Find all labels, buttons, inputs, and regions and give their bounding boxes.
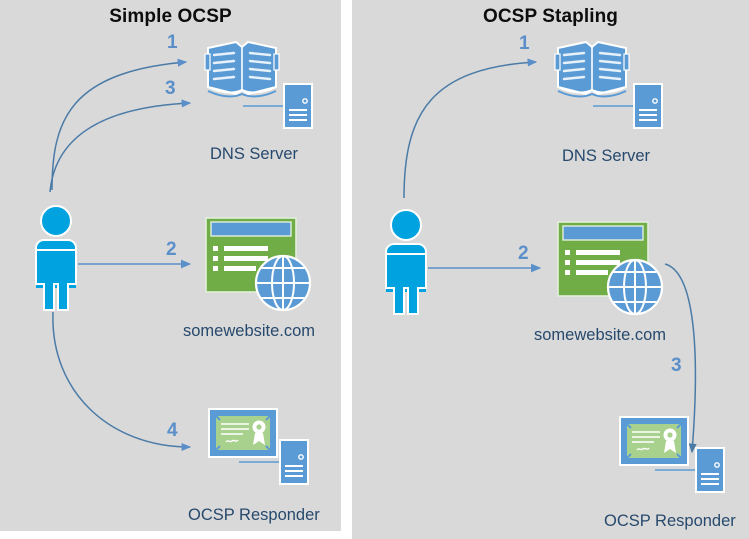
panel-ocsp-stapling: OCSP Stapling bbox=[352, 0, 749, 539]
step-number-simple-2: 2 bbox=[166, 239, 177, 261]
label-ocsp-responder-right: OCSP Responder bbox=[604, 512, 736, 531]
panel-title-ocsp-stapling: OCSP Stapling bbox=[352, 6, 749, 28]
step-number-stapling-2: 2 bbox=[518, 243, 529, 265]
step-number-simple-1: 1 bbox=[167, 32, 178, 54]
step-number-stapling-1: 1 bbox=[519, 33, 530, 55]
label-dns-server-right: DNS Server bbox=[562, 147, 650, 166]
label-ocsp-responder-left: OCSP Responder bbox=[188, 506, 320, 525]
panel-title-simple-ocsp: Simple OCSP bbox=[0, 6, 341, 28]
diagram-canvas: Simple OCSP OCSP Stapling bbox=[0, 0, 749, 539]
step-number-stapling-3: 3 bbox=[671, 355, 682, 377]
step-number-simple-4: 4 bbox=[167, 420, 178, 442]
label-dns-server-left: DNS Server bbox=[210, 145, 298, 164]
label-website-left: somewebsite.com bbox=[183, 322, 315, 341]
label-website-right: somewebsite.com bbox=[534, 326, 666, 345]
step-number-simple-3: 3 bbox=[165, 78, 176, 100]
